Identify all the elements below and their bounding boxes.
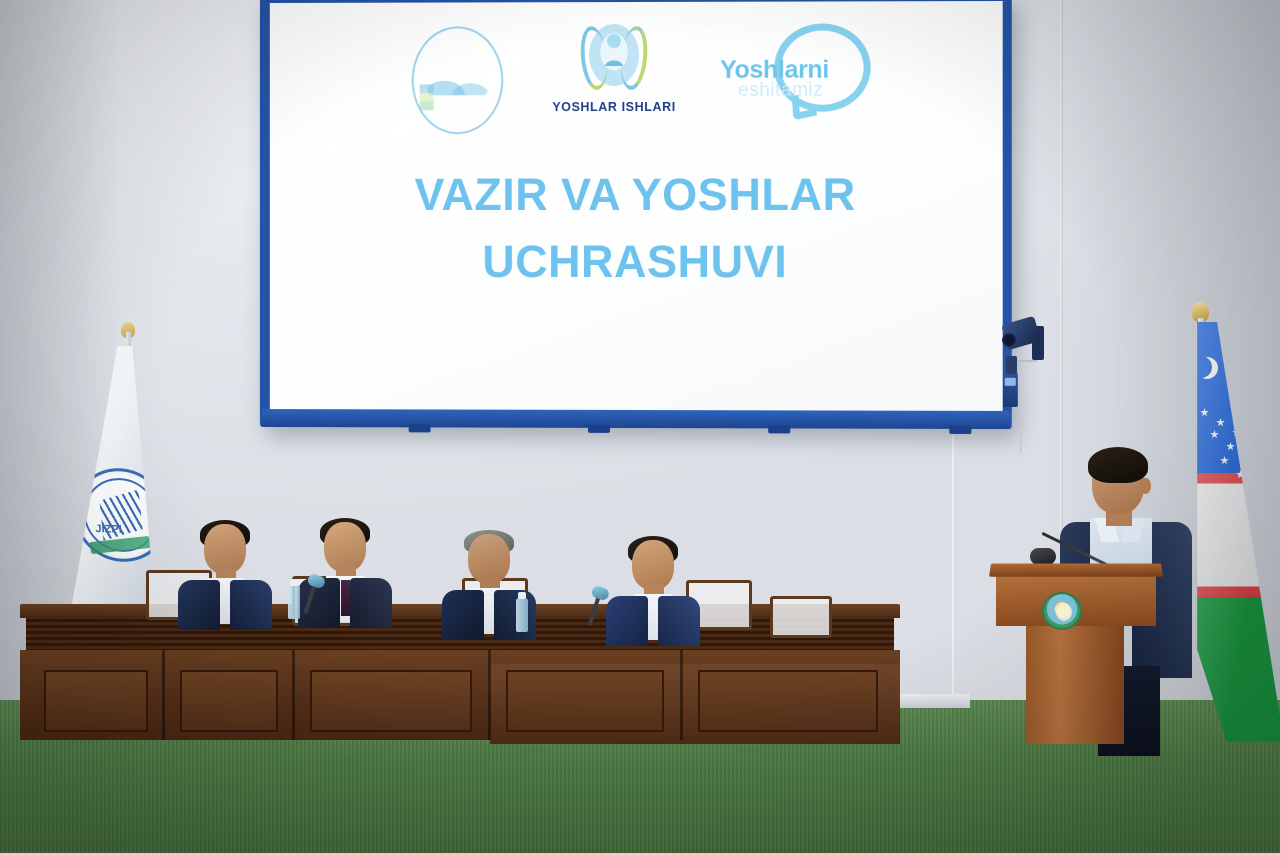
panelist-jacket-left (178, 580, 220, 630)
speaker-hair (1088, 447, 1148, 483)
yoshlar-ishlari-label: YOSHLAR ISHLARI (548, 100, 680, 114)
panelist-head (204, 524, 246, 574)
tray-clip (768, 425, 790, 433)
presentation-whiteboard[interactable]: YOSHLAR ISHLARI Yoshlarni eshitamiz VAZI… (260, 0, 1012, 429)
whiteboard-tray (262, 409, 1010, 429)
whiteboard-control-panel[interactable] (1003, 373, 1018, 407)
slide-title-line-2: UCHRASHUVI (270, 229, 1003, 296)
seal-ring-text (418, 32, 498, 128)
panel-chair (770, 596, 832, 638)
yoshlar-ishlari-logo: YOSHLAR ISHLARI (548, 22, 680, 126)
panelist-jacket-left (442, 590, 484, 640)
tray-clip (409, 424, 431, 432)
panelist-jacket-right (658, 596, 700, 646)
institute-seal-text: JIZPI (95, 523, 122, 536)
panelist-head (632, 540, 674, 590)
panelist-head (468, 534, 510, 584)
eshitamiz-label: eshitamiz (738, 80, 823, 102)
camera-power-box (1006, 356, 1017, 374)
photo-scene: YOSHLAR ISHLARI Yoshlarni eshitamiz VAZI… (0, 0, 1280, 853)
panelist-1 (176, 524, 272, 620)
podium-top-surface (989, 563, 1163, 576)
seated-audience (0, 706, 1280, 853)
seal-stripe (420, 84, 434, 110)
slide-title-line-1: VAZIR VA YOSHLAR (270, 162, 1003, 229)
panelist-jacket-right (230, 580, 272, 630)
panelist-tie (341, 580, 350, 616)
institute-seal-banner (89, 536, 151, 554)
panelist-jacket-right (494, 590, 536, 640)
slide-logo-row: YOSHLAR ISHLARI Yoshlarni eshitamiz (270, 19, 1003, 130)
panelist-4 (604, 540, 700, 636)
yoshlarni-eshitamiz-logo: Yoshlarni eshitamiz (718, 19, 879, 132)
emblem-huma-bird (598, 46, 630, 66)
water-bottle (516, 598, 528, 632)
water-bottle (288, 585, 300, 619)
power-cable (1020, 423, 1022, 453)
uzbekistan-state-emblem-icon (1042, 592, 1082, 630)
mahalla-seal-logo (412, 26, 504, 134)
tray-clip (588, 425, 610, 433)
state-emblem-icon (579, 22, 649, 96)
projection-surface: YOSHLAR ISHLARI Yoshlarni eshitamiz VAZI… (270, 1, 1003, 411)
wall-mounted-camera (1004, 320, 1044, 364)
panelist-head (324, 522, 366, 572)
panelist-jacket-right (350, 578, 392, 628)
tray-clip (949, 426, 971, 434)
panelist-jacket-left (606, 596, 648, 646)
slide-title: VAZIR VA YOSHLAR UCHRASHUVI (270, 162, 1003, 296)
camera-wire (1017, 360, 1037, 362)
speaker-ear (1140, 478, 1151, 494)
podium-front-face (996, 574, 1156, 626)
